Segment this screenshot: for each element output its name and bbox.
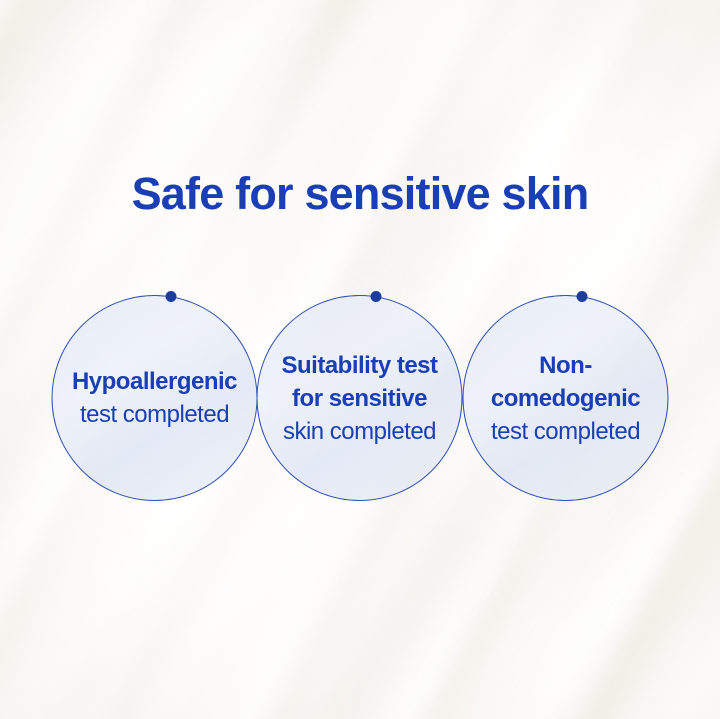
badge-hypoallergenic: Hypoallergenic test completed [52, 295, 258, 501]
badge-line: Hypoallergenic [72, 365, 237, 398]
badge-line: test completed [491, 415, 640, 448]
badge-line: test completed [80, 398, 229, 431]
badge-line: skin completed [283, 415, 436, 448]
badge-line: comedogenic [491, 382, 640, 415]
badge-suitability: Suitability test for sensitive skin comp… [257, 295, 463, 501]
badge-label: Non- comedogenic test completed [463, 295, 669, 501]
badge-non-comedogenic: Non- comedogenic test completed [463, 295, 669, 501]
badge-label: Suitability test for sensitive skin comp… [257, 295, 463, 501]
page-title: Safe for sensitive skin [0, 168, 720, 220]
promo-banner: Safe for sensitive skin Hypoallergenic t… [0, 0, 720, 719]
badge-line: Suitability test [281, 349, 437, 382]
badge-label: Hypoallergenic test completed [52, 295, 258, 501]
badge-line: Non- [539, 349, 592, 382]
badge-line: for sensitive [292, 382, 427, 415]
certification-badge-group: Hypoallergenic test completed Suitabilit… [52, 295, 669, 501]
